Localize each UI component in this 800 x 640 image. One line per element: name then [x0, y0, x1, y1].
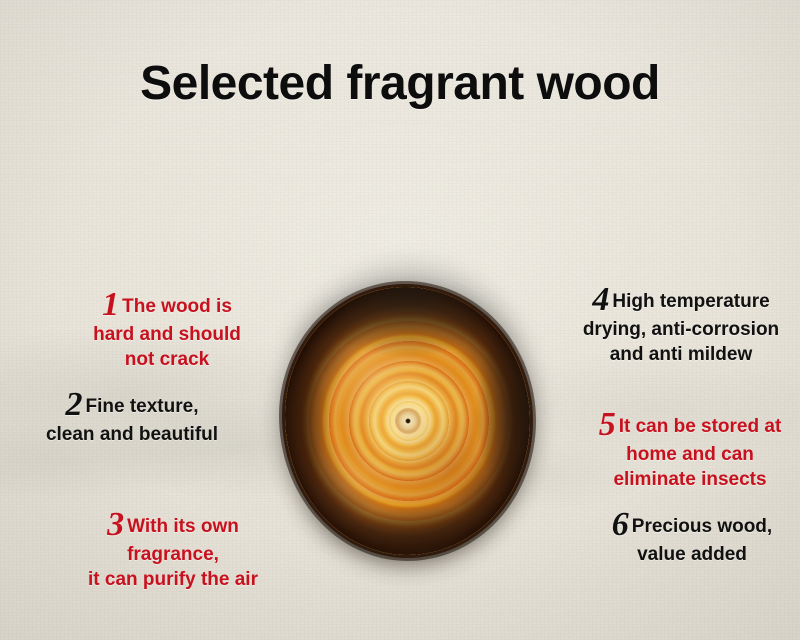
feature-line-2-1: Fine texture, — [86, 396, 199, 417]
pith-center — [395, 408, 421, 434]
feature-line-6-2: value added — [592, 542, 792, 567]
feature-item-6: 6Precious wood, value added — [592, 508, 792, 567]
feature-line-5-3: eliminate insects — [586, 467, 794, 492]
feature-line-4-3: and anti mildew — [566, 342, 796, 367]
feature-item-1: 1The wood is hard and should not crack — [62, 288, 272, 372]
feature-item-5: 5It can be stored at home and can elimin… — [586, 408, 794, 492]
feature-line-4-2: drying, anti-corrosion — [566, 317, 796, 342]
feature-item-4: 4High temperature drying, anti-corrosion… — [566, 283, 796, 367]
feature-line-5-2: home and can — [586, 442, 794, 467]
feature-item-3: 3With its own fragrance, it can purify t… — [58, 508, 288, 592]
feature-line-3-3: it can purify the air — [58, 567, 288, 592]
feature-number-1: 1 — [102, 286, 122, 323]
feature-line-3-2: fragrance, — [58, 542, 288, 567]
feature-line-6-1: Precious wood, — [632, 516, 772, 537]
feature-line-1-2: hard and should — [62, 322, 272, 347]
feature-number-3: 3 — [107, 506, 127, 543]
feature-number-4: 4 — [592, 281, 612, 318]
feature-line-1-1: The wood is — [122, 296, 232, 317]
feature-number-2: 2 — [66, 386, 86, 423]
feature-number-5: 5 — [599, 406, 619, 443]
feature-line-4-1: High temperature — [612, 291, 769, 312]
page-title: Selected fragrant wood — [0, 56, 800, 111]
feature-item-2: 2Fine texture, clean and beautiful — [22, 388, 242, 447]
feature-line-5-1: It can be stored at — [619, 416, 782, 437]
poster-canvas: Selected fragrant wood 1The wood is hard… — [0, 0, 800, 640]
feature-number-6: 6 — [612, 506, 632, 543]
feature-line-1-3: not crack — [62, 347, 272, 372]
wood-cross-section-image — [255, 250, 555, 590]
feature-line-3-1: With its own — [127, 516, 239, 537]
feature-line-2-2: clean and beautiful — [22, 422, 242, 447]
wood-disc — [285, 287, 530, 555]
